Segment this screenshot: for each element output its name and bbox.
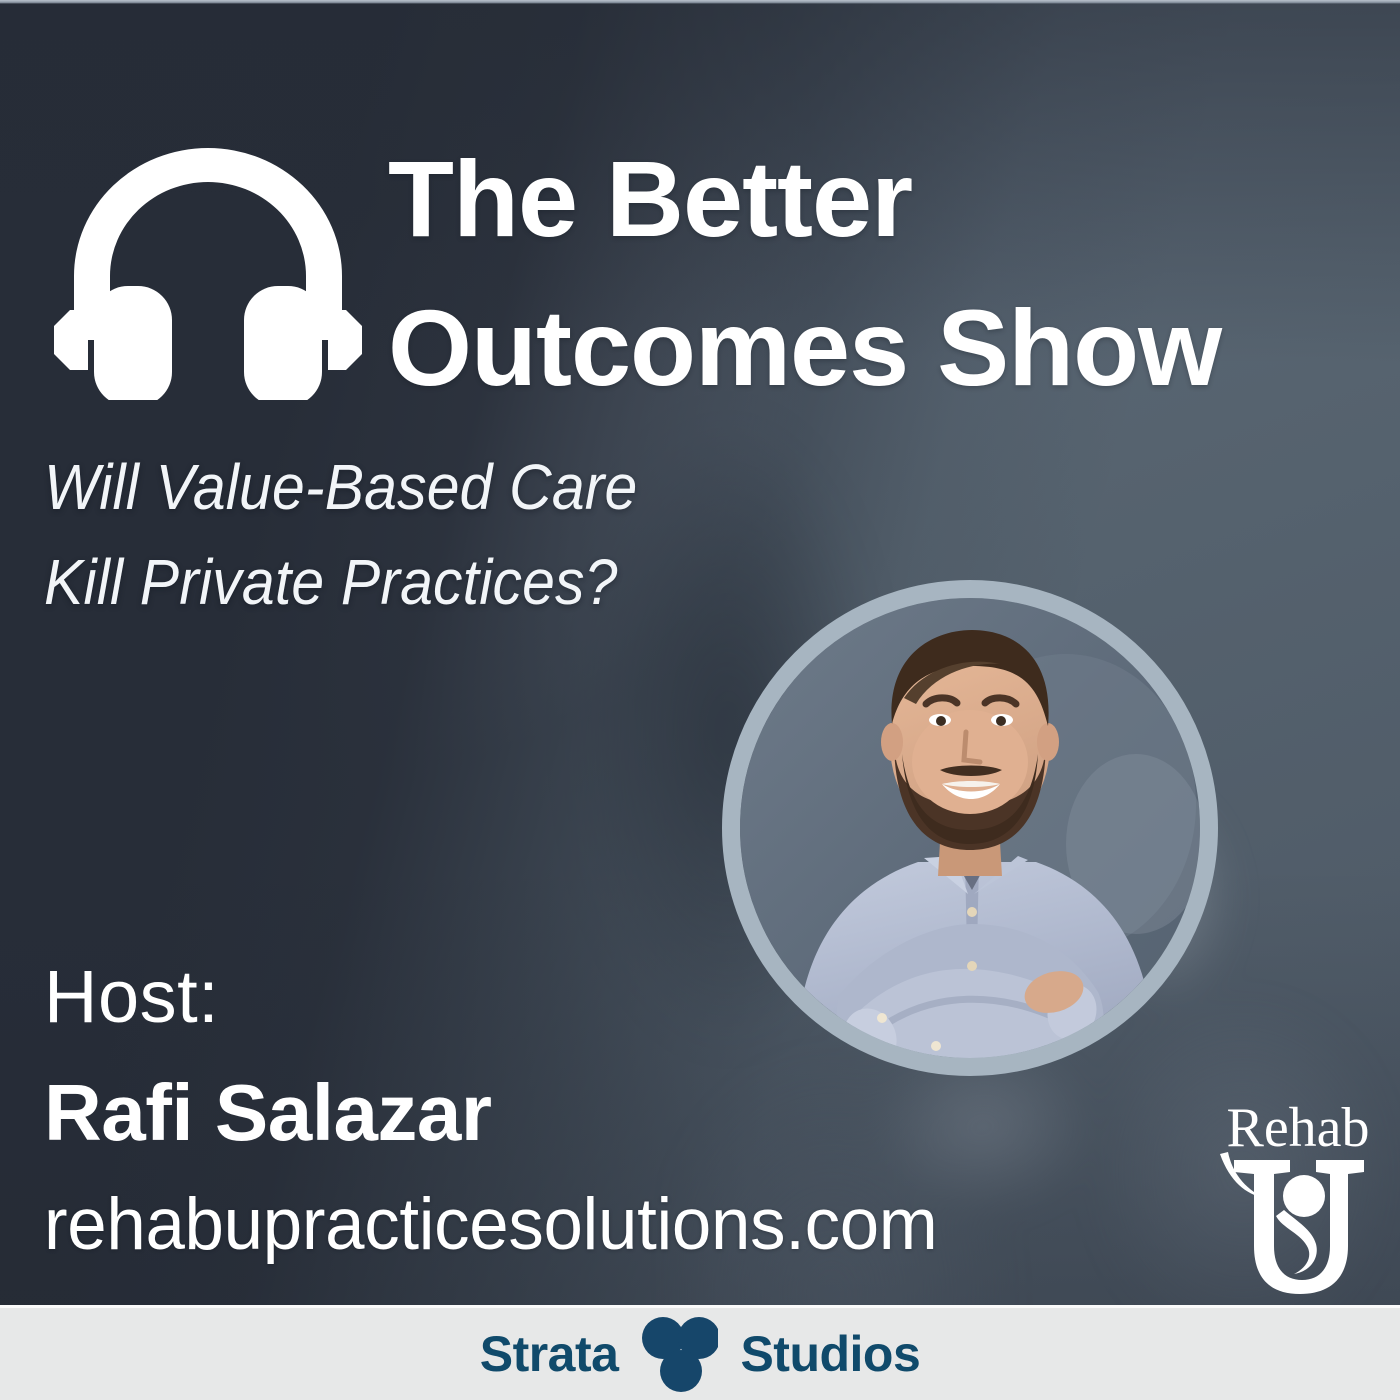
host-portrait-ring <box>722 580 1218 1076</box>
episode-subtitle-line-2: Kill Private Practices? <box>44 535 798 630</box>
show-title: The Better Outcomes Show <box>388 124 1348 422</box>
studios-wordmark: Studios <box>740 1329 920 1379</box>
host-portrait <box>722 580 1218 1076</box>
headphones-icon <box>38 126 378 400</box>
show-title-line-1: The Better <box>388 138 912 259</box>
rehab-u-logo: Rehab <box>1212 1098 1380 1298</box>
episode-subtitle: Will Value-Based Care Kill Private Pract… <box>44 440 798 629</box>
host-name: Rafi Salazar <box>44 1073 492 1153</box>
host-label: Host: <box>44 960 219 1034</box>
top-edge-highlight <box>0 0 1400 4</box>
footer-bar: Strata Studios <box>0 1305 1400 1400</box>
episode-subtitle-line-1: Will Value-Based Care <box>44 440 798 535</box>
strata-studios-dots-logo <box>640 1316 718 1392</box>
show-title-line-2: Outcomes Show <box>388 273 1348 422</box>
rehab-u-wordmark: Rehab <box>1226 1098 1369 1159</box>
strata-wordmark: Strata <box>480 1329 619 1379</box>
host-website-url: rehabupracticesolutions.com <box>44 1188 937 1261</box>
podcast-cover-art: The Better Outcomes Show Will Value-Base… <box>0 0 1400 1400</box>
